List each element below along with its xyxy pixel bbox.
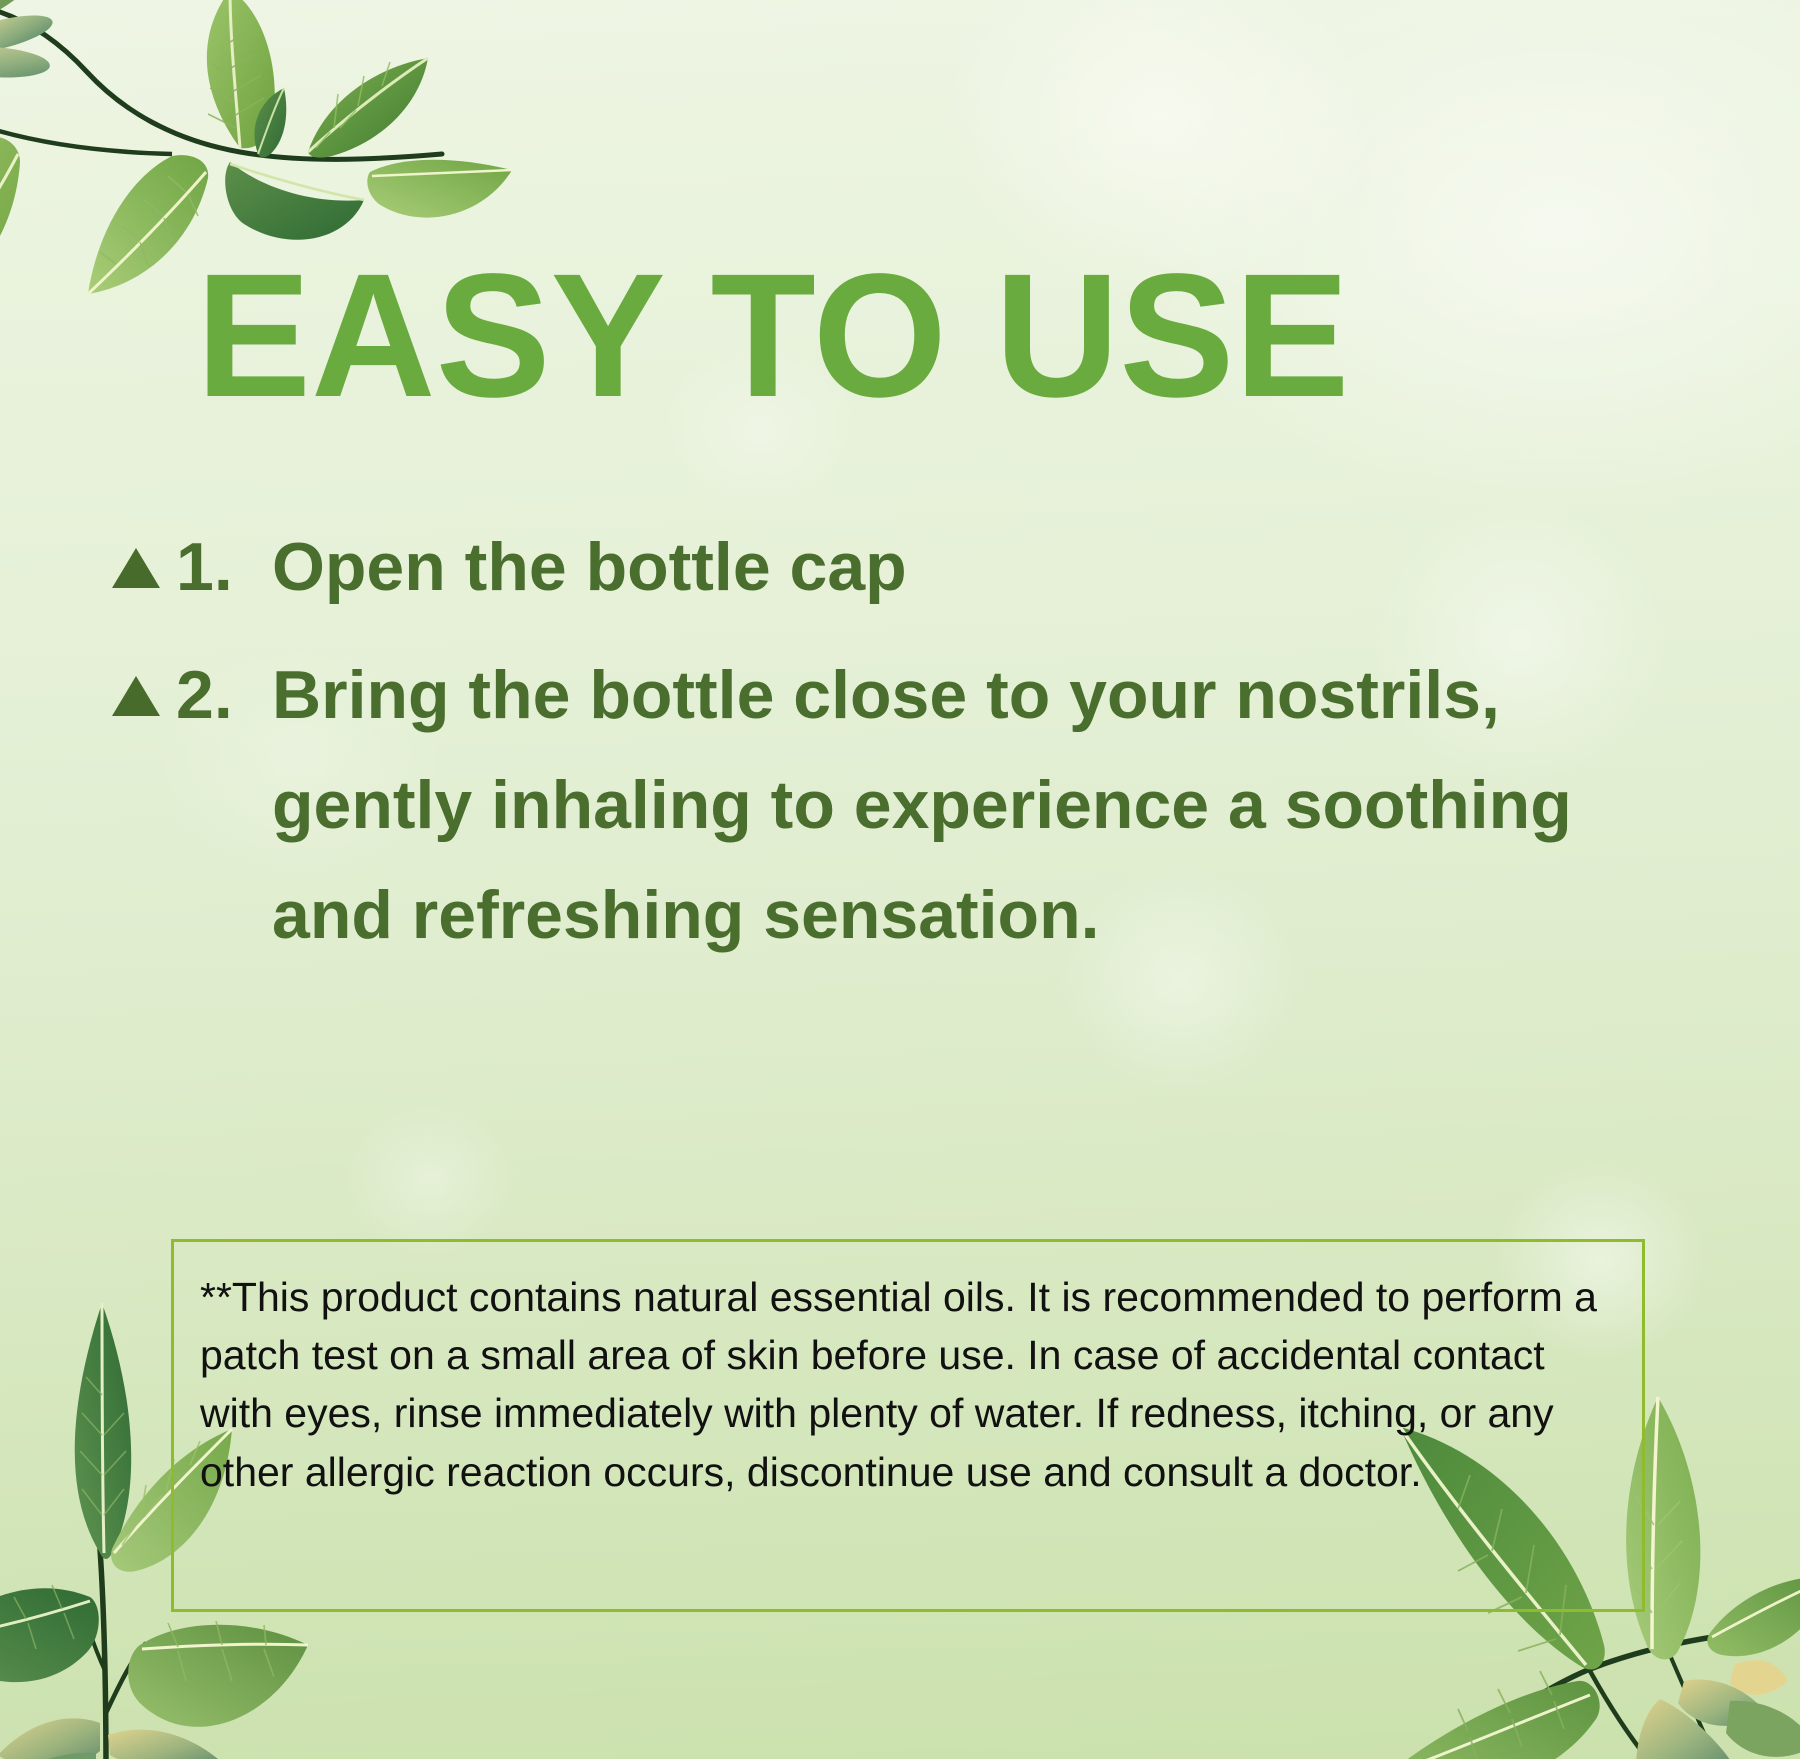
list-item-number: 1. <box>176 512 272 622</box>
list-item-number: 2. <box>176 640 272 750</box>
list-item: 2. Bring the bottle close to your nostri… <box>110 640 1670 970</box>
disclaimer-text: **This product contains natural essentia… <box>200 1268 1620 1501</box>
instruction-steps-list: 1. Open the bottle cap 2. Bring the bott… <box>110 512 1670 989</box>
list-item-text: Open the bottle cap <box>272 512 1670 622</box>
page-title: EASY TO USE <box>196 248 1568 424</box>
easy-to-use-poster: EASY TO USE 1. Open the bottle cap 2. Br… <box>0 0 1800 1759</box>
triangle-up-icon <box>110 674 162 718</box>
list-item-text: Bring the bottle close to your nostrils,… <box>272 640 1670 970</box>
triangle-up-icon <box>110 546 162 590</box>
list-item: 1. Open the bottle cap <box>110 512 1670 622</box>
